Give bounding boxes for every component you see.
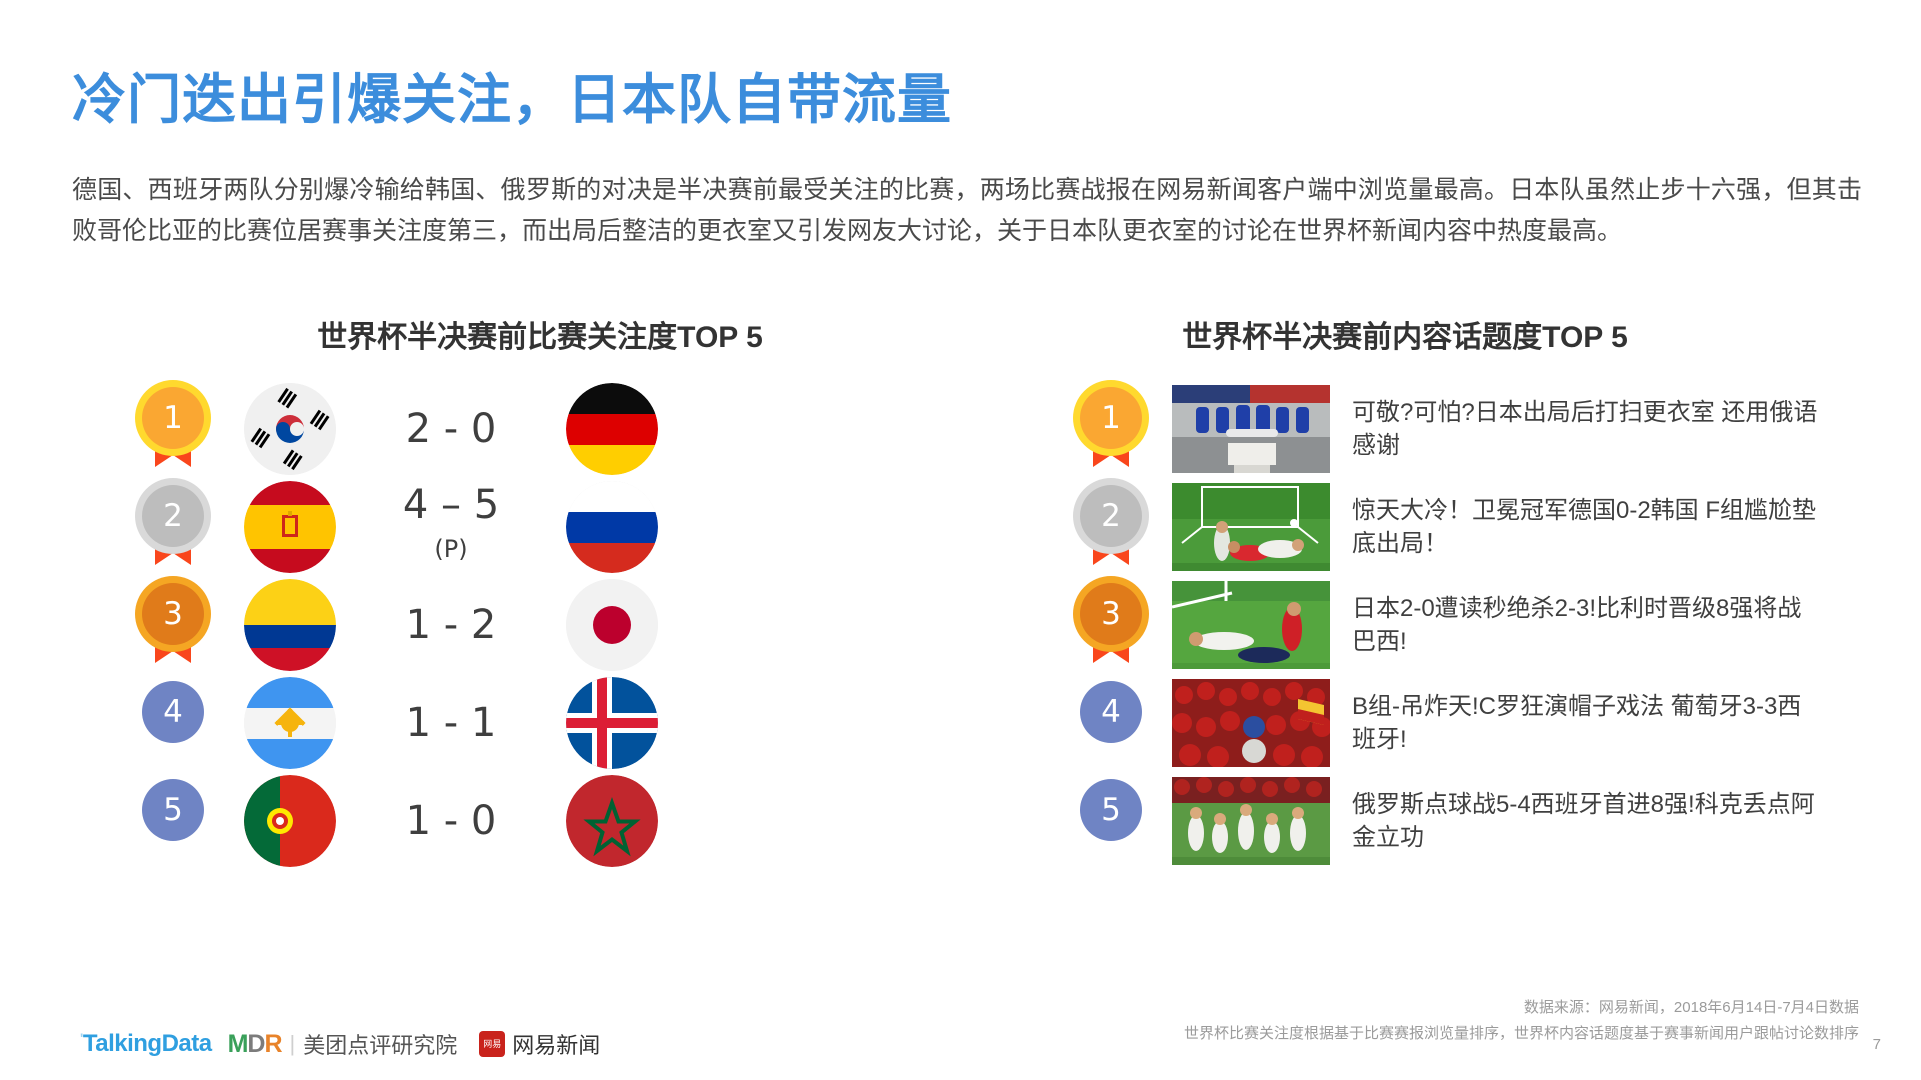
brand-bar: 'TalkingData MDR | 美团点评研究院 网易 网易新闻 xyxy=(80,1028,600,1060)
score-value: 4 – 5 xyxy=(403,482,499,528)
score-value: 1 - 0 xyxy=(406,798,497,844)
rank-badge-4: 4 xyxy=(142,681,204,765)
list-item[interactable]: 4 xyxy=(1080,674,1860,772)
list-item[interactable]: 2 xyxy=(1080,478,1860,576)
news-topic-list: 1 可敬?可怕? xyxy=(1080,380,1860,870)
news-title: 日本2-0遭读秒绝杀2-3!比利时晋级8强将战巴西! xyxy=(1352,592,1822,658)
russia-flag xyxy=(566,481,658,573)
rank-number: 2 xyxy=(1080,485,1142,547)
match-score: 2 - 0 xyxy=(336,409,566,449)
rank-badge-2: 2 xyxy=(1080,485,1142,569)
left-panel-heading: 世界杯半决赛前比赛关注度TOP 5 xyxy=(180,312,900,356)
morocco-flag xyxy=(566,775,658,867)
rank-badge-3: 3 xyxy=(142,583,204,667)
rank-number: 4 xyxy=(1080,681,1142,743)
rank-number: 3 xyxy=(1080,583,1142,645)
meituan-research-label: 美团点评研究院 xyxy=(303,1028,457,1060)
page-number: 7 xyxy=(1873,1036,1881,1053)
source-note: 数据来源：网易新闻，2018年6月14日-7月4日数据 世界杯比赛关注度根据基于… xyxy=(859,995,1859,1047)
list-item[interactable]: 3 日本2-0遭读秒绝杀2-3!比利时晋级8强 xyxy=(1080,576,1860,674)
netease-news-label: 网易新闻 xyxy=(512,1028,600,1060)
south-korea-flag xyxy=(244,383,336,475)
rank-number: 5 xyxy=(1080,779,1142,841)
mdr-logo-r: R xyxy=(264,1030,281,1058)
match-score: 1 - 1 xyxy=(336,703,566,743)
spain-flag xyxy=(244,481,336,573)
match-score: 1 - 0 xyxy=(336,801,566,841)
lead-paragraph: 德国、西班牙两队分别爆冷输给韩国、俄罗斯的对决是半决赛前最受关注的比赛，两场比赛… xyxy=(72,170,1862,252)
netease-news-logo: 网易 网易新闻 xyxy=(479,1028,600,1060)
mdr-logo-d: D xyxy=(247,1030,264,1058)
page-title: 冷门迭出引爆关注，日本队自带流量 xyxy=(72,55,952,134)
colombia-flag xyxy=(244,579,336,671)
iceland-flag xyxy=(566,677,658,769)
japan-flag xyxy=(566,579,658,671)
talkingdata-logo: 'TalkingData xyxy=(80,1030,212,1058)
match-score: 4 – 5 (P) xyxy=(336,485,566,569)
rank-badge-1: 1 xyxy=(1080,387,1142,471)
table-row[interactable]: 3 1 - 2 xyxy=(120,576,880,674)
table-row[interactable]: 5 1 - 0 xyxy=(120,772,880,870)
match-score: 1 - 2 xyxy=(336,605,566,645)
match-attention-list: 1 2 - 0 xyxy=(120,380,880,870)
red-crowd-photo xyxy=(1172,679,1330,767)
news-title: B组-吊炸天!C罗狂演帽子戏法 葡萄牙3-3西班牙! xyxy=(1352,690,1822,756)
news-title: 惊天大冷！卫冕冠军德国0-2韩国 F组尴尬垫底出局！ xyxy=(1352,494,1822,560)
netease-mark-icon: 网易 xyxy=(479,1031,505,1057)
score-value: 1 - 1 xyxy=(406,700,497,746)
score-value: 1 - 2 xyxy=(406,602,497,648)
locker-room-photo xyxy=(1172,385,1330,473)
brand-divider: | xyxy=(290,1031,296,1057)
table-row[interactable]: 2 4 – 5 xyxy=(120,478,880,576)
portugal-flag xyxy=(244,775,336,867)
rank-number: 4 xyxy=(142,681,204,743)
rank-badge-4: 4 xyxy=(1080,681,1142,765)
rank-badge-5: 5 xyxy=(142,779,204,863)
list-item[interactable]: 1 可敬?可怕? xyxy=(1080,380,1860,478)
germany-flag xyxy=(566,383,658,475)
rank-badge-2: 2 xyxy=(142,485,204,569)
rank-badge-1: 1 xyxy=(142,387,204,471)
source-line-2: 世界杯比赛关注度根据基于比赛赛报浏览量排序，世界杯内容话题度基于赛事新闻用户跟帖… xyxy=(859,1021,1859,1047)
rank-badge-3: 3 xyxy=(1080,583,1142,667)
list-item[interactable]: 5 xyxy=(1080,772,1860,870)
news-title: 俄罗斯点球战5-4西班牙首进8强!科克丢点阿金立功 xyxy=(1352,788,1822,854)
celebration-photo xyxy=(1172,777,1330,865)
mdr-logo: MDR xyxy=(228,1030,282,1059)
rank-number: 2 xyxy=(142,485,204,547)
argentina-flag xyxy=(244,677,336,769)
rank-number: 1 xyxy=(142,387,204,449)
goal-save-photo xyxy=(1172,483,1330,571)
rank-number: 3 xyxy=(142,583,204,645)
slide-root: 冷门迭出引爆关注，日本队自带流量 德国、西班牙两队分别爆冷输给韩国、俄罗斯的对决… xyxy=(0,0,1921,1080)
talkingdata-logo-text: TalkingData xyxy=(83,1030,212,1057)
mdr-logo-m: M xyxy=(228,1030,248,1058)
rank-badge-5: 5 xyxy=(1080,779,1142,863)
penalty-note: (P) xyxy=(336,529,566,569)
source-line-1: 数据来源：网易新闻，2018年6月14日-7月4日数据 xyxy=(1524,999,1859,1016)
rank-number: 5 xyxy=(142,779,204,841)
table-row[interactable]: 1 2 - 0 xyxy=(120,380,880,478)
table-row[interactable]: 4 xyxy=(120,674,880,772)
players-ground-photo xyxy=(1172,581,1330,669)
rank-number: 1 xyxy=(1080,387,1142,449)
right-panel-heading: 世界杯半决赛前内容话题度TOP 5 xyxy=(1010,312,1800,356)
news-title: 可敬?可怕?日本出局后打扫更衣室 还用俄语感谢 xyxy=(1352,396,1822,462)
score-value: 2 - 0 xyxy=(406,406,497,452)
